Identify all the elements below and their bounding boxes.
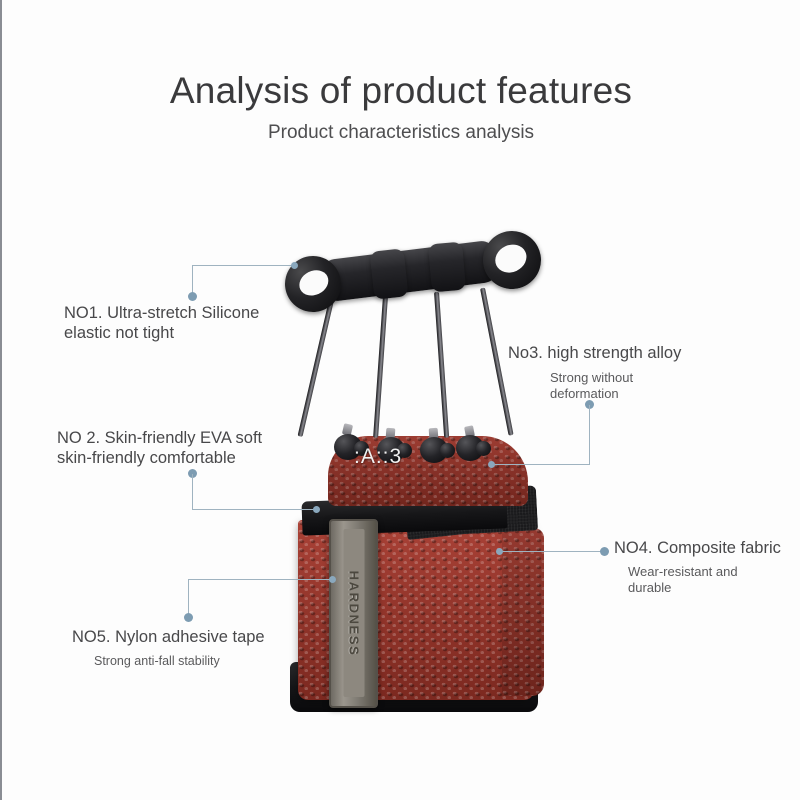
- callout-no2-main: NO 2. Skin-friendly EVA soft skin-friend…: [57, 428, 327, 468]
- leader-dot-no1: [188, 292, 197, 301]
- ring-collar-2: [370, 248, 409, 299]
- leader-line-no4: [499, 551, 604, 552]
- finger-ring-1-hole: [295, 266, 332, 301]
- callout-no5-sub: Strong anti-fall stability: [94, 653, 322, 669]
- wrist-strap-fold: [502, 528, 544, 696]
- callout-no4-sub: Wear-resistant and durable: [628, 564, 794, 596]
- leader-line-no3-horizontal: [491, 464, 590, 465]
- leader-dot-no5: [184, 613, 193, 622]
- leader-line-no5-vertical: [188, 579, 189, 615]
- callout-no3-sub: Strong without deformation: [550, 370, 738, 402]
- leader-line-no1-vertical: [192, 265, 193, 295]
- top-connector-bar: [320, 239, 499, 302]
- callout-no1-main: NO1. Ultra-stretch Silicone elastic not …: [64, 303, 324, 343]
- leader-anchor-no1: [291, 262, 298, 269]
- leader-anchor-no4: [496, 548, 503, 555]
- silicone-loop-3: [440, 443, 455, 458]
- leader-anchor-no3: [488, 461, 495, 468]
- callout-no5: NO5. Nylon adhesive tape Strong anti-fal…: [72, 627, 322, 669]
- alloy-rod-3: [434, 292, 449, 438]
- callout-no1: NO1. Ultra-stretch Silicone elastic not …: [64, 303, 324, 343]
- callout-no4-main: NO4. Composite fabric: [614, 538, 794, 558]
- callout-no5-main: NO5. Nylon adhesive tape: [72, 627, 322, 647]
- alloy-rod-2: [373, 296, 388, 438]
- finger-ring-4: [481, 229, 544, 292]
- finger-ring-4-hole: [491, 240, 531, 278]
- leader-anchor-no2: [313, 506, 320, 513]
- infographic-page: Analysis of product features Product cha…: [0, 0, 800, 800]
- leader-line-no2-horizontal: [192, 509, 317, 510]
- hardness-buckle: HARDNESS: [329, 519, 378, 708]
- leader-dot-no4: [600, 547, 609, 556]
- callout-no4: NO4. Composite fabric Wear-resistant and…: [614, 538, 794, 596]
- silicone-loop-4: [476, 441, 491, 456]
- leader-line-no1-horizontal: [192, 265, 297, 266]
- callout-no2: NO 2. Skin-friendly EVA soft skin-friend…: [57, 428, 327, 468]
- callout-no3-main: No3. high strength alloy: [508, 343, 738, 363]
- leader-line-no3-vertical: [589, 405, 590, 465]
- callout-no3: No3. high strength alloy Strong without …: [508, 343, 738, 402]
- leader-line-no5-horizontal: [188, 579, 333, 580]
- ring-collar-3: [428, 242, 466, 293]
- buckle-label: HARDNESS: [346, 571, 361, 657]
- leader-anchor-no5: [329, 576, 336, 583]
- leader-line-no2-vertical: [192, 474, 193, 510]
- product-overlay-code: :A::3: [354, 445, 402, 469]
